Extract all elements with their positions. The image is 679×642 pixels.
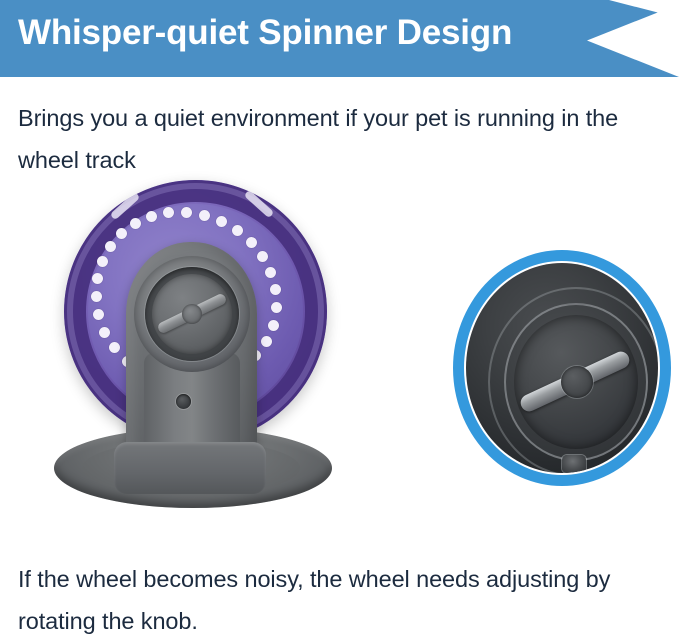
product-image-knob-closeup (453, 250, 673, 488)
wheel-base-plate (114, 442, 266, 494)
header-banner: Whisper-quiet Spinner Design (0, 0, 679, 77)
product-photo-stage (0, 178, 679, 528)
banner-arrow-notch (587, 4, 679, 77)
knob-center-hub (182, 304, 202, 324)
stand-screw-bolt (176, 394, 191, 409)
page-title: Whisper-quiet Spinner Design (18, 11, 512, 55)
feature-description-bottom: If the wheel becomes noisy, the wheel ne… (18, 558, 668, 642)
annotation-highlight-circle (453, 250, 671, 486)
feature-description-top: Brings you a quiet environment if your p… (18, 97, 668, 181)
product-image-wheel-assembly (52, 178, 342, 508)
